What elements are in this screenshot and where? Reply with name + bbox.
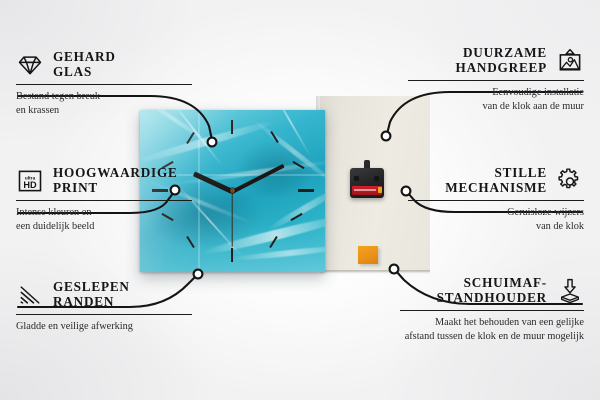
callout-title-line2: RANDEN xyxy=(53,295,130,310)
callout-title-line2: MECHANISME xyxy=(445,181,547,196)
picture-hanger-icon xyxy=(556,47,584,75)
callout-schuimafstandhouder: SCHUIMAF- STANDHOUDER Maakt het behouden… xyxy=(400,276,584,343)
callout-desc-line1: Maakt het behouden van een gelijke xyxy=(400,316,584,330)
callout-hoogwaardige-print: ultra HD HOOGWAARDIGE PRINT Intense kleu… xyxy=(16,166,192,233)
callout-duurzame-handgreep: DUURZAME HANDGREEP Eenvoudige installati… xyxy=(408,46,584,113)
callout-title-line1: GEHARD xyxy=(53,50,116,65)
callout-title-line2: PRINT xyxy=(53,181,178,196)
callout-desc-line1: Bestand tegen breuk xyxy=(16,90,192,104)
movement-screw-right xyxy=(374,176,379,181)
spacer-press-icon xyxy=(556,277,584,305)
callout-desc-line1: Gladde en veilige afwerking xyxy=(16,320,192,334)
callout-desc-line1: Geruisloze wijzers xyxy=(408,206,584,220)
callout-rule xyxy=(16,314,192,315)
callout-title-line1: HOOGWAARDIGE xyxy=(53,166,178,181)
callout-header: ultra HD HOOGWAARDIGE PRINT xyxy=(16,166,192,196)
gear-icon xyxy=(556,167,584,195)
battery-label-stripe xyxy=(354,189,376,191)
callout-header: GESLEPEN RANDEN xyxy=(16,280,192,310)
diamond-icon xyxy=(16,51,44,79)
callout-desc-line2: een duidelijk beeld xyxy=(16,220,192,234)
callout-geslepen-randen: GESLEPEN RANDEN Gladde en veilige afwerk… xyxy=(16,280,192,334)
foam-spacer xyxy=(358,246,378,264)
callout-title-line1: SCHUIMAF- xyxy=(437,276,547,291)
wall-panel-base-shadow xyxy=(320,270,430,274)
callout-rule xyxy=(408,200,584,201)
callout-gehard-glas: GEHARD GLAS Bestand tegen breuk en krass… xyxy=(16,50,192,117)
callout-header: DUURZAME HANDGREEP xyxy=(408,46,584,76)
callout-title-line2: HANDGREEP xyxy=(456,61,547,76)
callout-desc-line1: Eenvoudige installatie xyxy=(408,86,584,100)
movement-screw-left xyxy=(354,176,359,181)
callout-desc-line2: van de klok aan de muur xyxy=(408,100,584,114)
callout-title-line2: STANDHOUDER xyxy=(437,291,547,306)
callout-desc-line2: en krassen xyxy=(16,104,192,118)
callout-header: STILLE MECHANISME xyxy=(408,166,584,196)
callout-title-line2: GLAS xyxy=(53,65,116,80)
callout-title-line1: GESLEPEN xyxy=(53,280,130,295)
callout-rule xyxy=(16,84,192,85)
callout-rule xyxy=(16,200,192,201)
callout-desc-line1: Intense kleuren en xyxy=(16,206,192,220)
callout-desc-line2: van de klok xyxy=(408,220,584,234)
bevelled-edge-icon xyxy=(16,281,44,309)
callout-title-line1: STILLE xyxy=(445,166,547,181)
callout-header: GEHARD GLAS xyxy=(16,50,192,80)
ultra-hd-icon: ultra HD xyxy=(16,167,44,195)
callout-stille-mechanisme: STILLE MECHANISME Geruisloze wijzers van… xyxy=(408,166,584,233)
callout-rule xyxy=(400,310,584,311)
callout-title-line1: DUURZAME xyxy=(456,46,547,61)
ultra-hd-icon-bottom: HD xyxy=(23,180,37,190)
callout-rule xyxy=(408,80,584,81)
callout-desc-line2: afstand tussen de klok en de muur mogeli… xyxy=(400,330,584,344)
battery-terminal xyxy=(378,187,382,193)
callout-header: SCHUIMAF- STANDHOUDER xyxy=(400,276,584,306)
infographic-canvas: GEHARD GLAS Bestand tegen breuk en krass… xyxy=(0,0,600,400)
